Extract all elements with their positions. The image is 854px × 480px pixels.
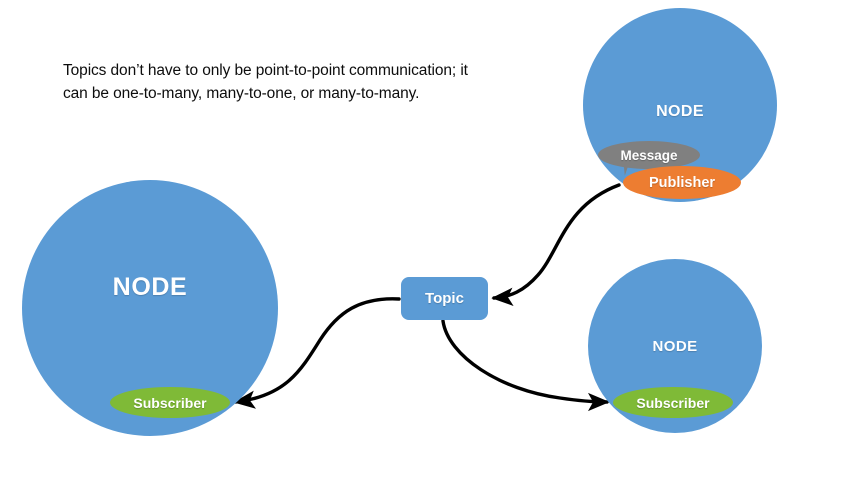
- slide-canvas: Topics don’t have to only be point-to-po…: [0, 0, 854, 480]
- caption-text: Topics don’t have to only be point-to-po…: [63, 59, 493, 106]
- node-bottom-right-label: NODE: [588, 338, 762, 355]
- publisher-top-right[interactable]: Publisher: [623, 166, 741, 199]
- arrow-topic-to-subscriber-bottom-right: [443, 321, 607, 402]
- subscriber-bottom-right[interactable]: Subscriber: [613, 387, 733, 418]
- arrow-publisher-to-topic: [494, 185, 619, 298]
- node-top-right-label: NODE: [583, 103, 777, 121]
- message-bubble[interactable]: Message: [598, 141, 700, 169]
- subscriber-left[interactable]: Subscriber: [110, 387, 230, 418]
- node-left-label: NODE: [22, 273, 278, 302]
- topic-box[interactable]: Topic: [401, 277, 488, 320]
